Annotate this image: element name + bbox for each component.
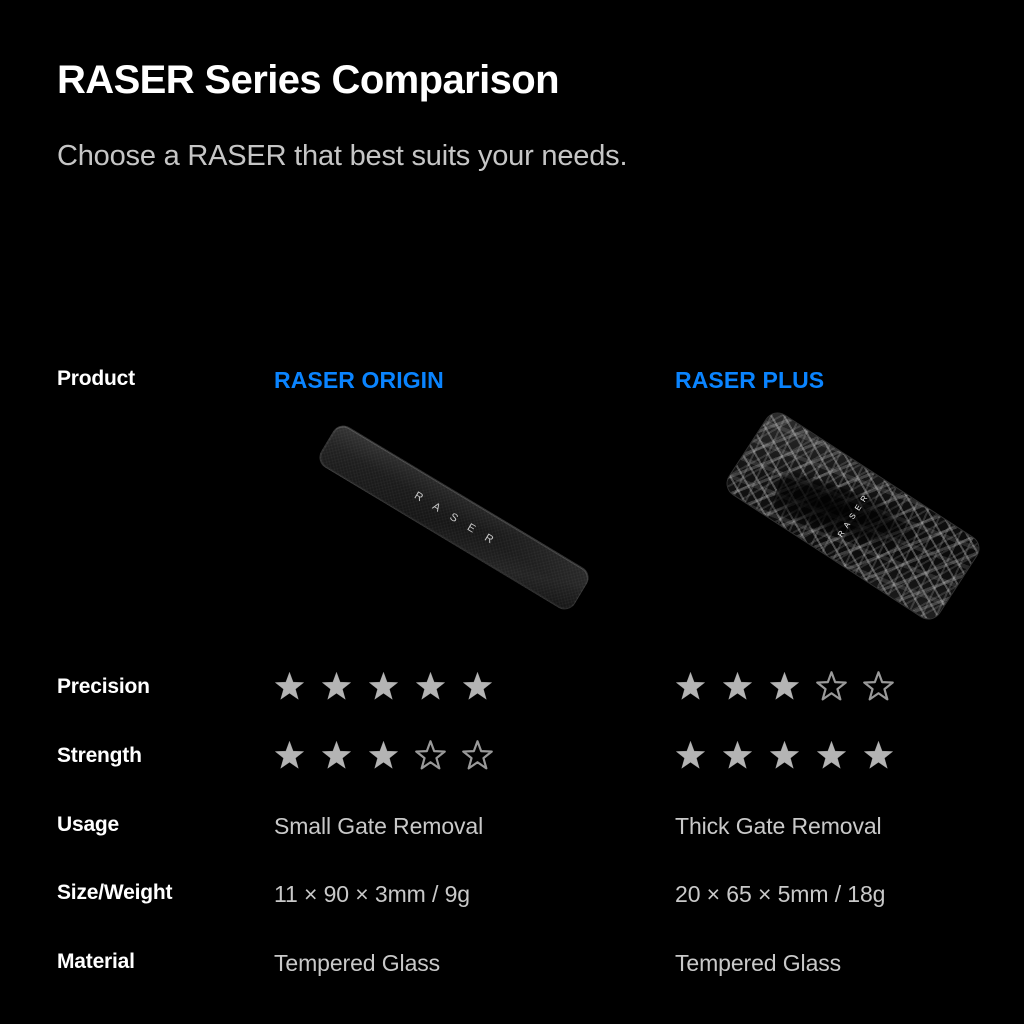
comparison-table: Product RASER ORIGIN RASER PLUS RASER xyxy=(0,0,1024,1024)
star-filled-icon xyxy=(368,671,399,702)
precision-rating-plus xyxy=(675,671,894,702)
product-image-plus[interactable]: RASER xyxy=(675,420,1015,655)
raser-origin-bar-shape: RASER xyxy=(315,421,593,614)
star-filled-icon xyxy=(863,740,894,771)
usage-origin-cell: Small Gate Removal xyxy=(274,813,483,840)
star-filled-icon xyxy=(321,671,352,702)
precision-plus-cell xyxy=(675,675,894,702)
precision-origin-cell xyxy=(274,675,493,702)
star-outline-icon xyxy=(816,671,847,702)
row-label-product: Product xyxy=(57,367,135,391)
strength-origin-cell xyxy=(274,744,493,771)
star-filled-icon xyxy=(274,671,305,702)
star-filled-icon xyxy=(769,740,800,771)
product-name-origin-cell: RASER ORIGIN xyxy=(274,367,444,394)
star-outline-icon xyxy=(863,671,894,702)
strength-rating-plus xyxy=(675,740,894,771)
product-image-origin[interactable]: RASER xyxy=(274,420,614,655)
usage-value-origin: Small Gate Removal xyxy=(274,813,483,840)
raser-origin-tool: RASER xyxy=(274,420,614,655)
raser-plus-bar-shape: RASER xyxy=(721,407,985,625)
size-weight-origin-cell: 11 × 90 × 3mm / 9g xyxy=(274,881,470,908)
product-name-plus[interactable]: RASER PLUS xyxy=(675,367,824,394)
row-label-precision: Precision xyxy=(57,675,150,699)
star-filled-icon xyxy=(274,740,305,771)
raser-plus-tool: RASER xyxy=(675,420,1015,655)
origin-sheen-overlay xyxy=(328,423,592,594)
size-weight-plus-cell: 20 × 65 × 5mm / 18g xyxy=(675,881,885,908)
star-outline-icon xyxy=(415,740,446,771)
star-filled-icon xyxy=(722,740,753,771)
material-value-origin: Tempered Glass xyxy=(274,950,440,977)
comparison-page: RASER Series Comparison Choose a RASER t… xyxy=(0,0,1024,1024)
star-filled-icon xyxy=(321,740,352,771)
star-filled-icon xyxy=(722,671,753,702)
star-filled-icon xyxy=(368,740,399,771)
row-label-usage: Usage xyxy=(57,813,119,837)
material-value-plus: Tempered Glass xyxy=(675,950,841,977)
star-filled-icon xyxy=(415,671,446,702)
star-filled-icon xyxy=(675,671,706,702)
star-outline-icon xyxy=(462,740,493,771)
size-weight-value-origin: 11 × 90 × 3mm / 9g xyxy=(274,881,470,908)
usage-value-plus: Thick Gate Removal xyxy=(675,813,882,840)
size-weight-value-plus: 20 × 65 × 5mm / 18g xyxy=(675,881,885,908)
material-origin-cell: Tempered Glass xyxy=(274,950,440,977)
star-filled-icon xyxy=(769,671,800,702)
product-name-origin[interactable]: RASER ORIGIN xyxy=(274,367,444,394)
product-name-plus-cell: RASER PLUS xyxy=(675,367,824,394)
material-plus-cell: Tempered Glass xyxy=(675,950,841,977)
star-filled-icon xyxy=(462,671,493,702)
star-filled-icon xyxy=(816,740,847,771)
row-label-material: Material xyxy=(57,950,135,974)
precision-rating-origin xyxy=(274,671,493,702)
row-label-size-weight: Size/Weight xyxy=(57,881,172,905)
origin-engraved-label: RASER xyxy=(401,483,507,553)
strength-rating-origin xyxy=(274,740,493,771)
usage-plus-cell: Thick Gate Removal xyxy=(675,813,882,840)
row-label-strength: Strength xyxy=(57,744,142,768)
star-filled-icon xyxy=(675,740,706,771)
strength-plus-cell xyxy=(675,744,894,771)
